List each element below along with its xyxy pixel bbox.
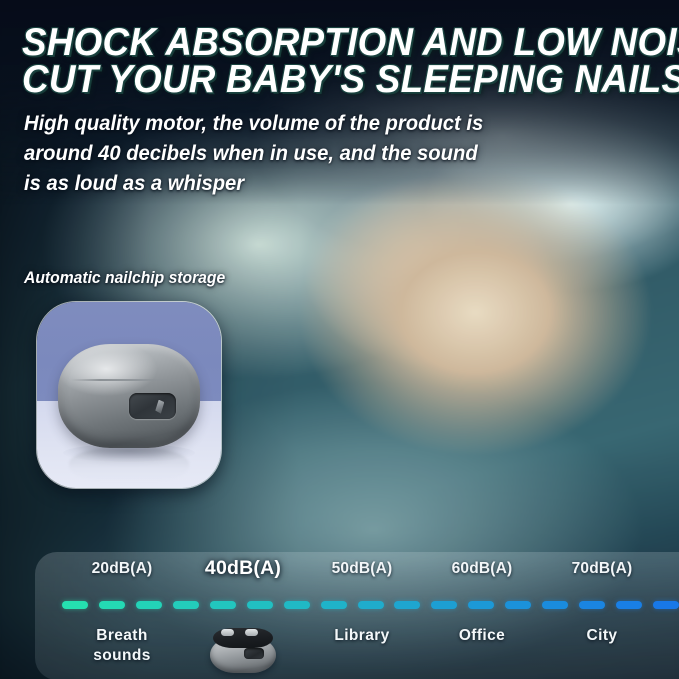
decibel-label-2: 50dB(A): [332, 560, 393, 578]
sound-source-label-3: Office: [459, 626, 505, 646]
scale-dash-5: [247, 601, 273, 609]
product-case-seam: [71, 379, 187, 381]
product-case-icon: [58, 344, 200, 448]
decibel-gradient-dash-line: [0, 601, 679, 610]
scale-dash-10: [431, 601, 457, 609]
scale-dash-15: [616, 601, 642, 609]
scale-dash-1: [99, 601, 125, 609]
subtitle: High quality motor, the volume of the pr…: [24, 108, 550, 198]
mini-case-window: [244, 648, 264, 659]
scale-dash-8: [358, 601, 384, 609]
mini-case-knob-left: [221, 629, 234, 636]
scale-dash-3: [173, 601, 199, 609]
product-poster: SHOCK ABSORPTION AND LOW NOISE CUT YOUR …: [0, 0, 679, 679]
headline-line-2: CUT YOUR BABY'S SLEEPING NAILS: [22, 61, 641, 98]
decibel-label-0: 20dB(A): [92, 560, 153, 578]
scale-dash-0: [62, 601, 88, 609]
inset-product-box: [36, 301, 222, 489]
decibel-label-3: 60dB(A): [452, 560, 513, 578]
scale-dash-14: [579, 601, 605, 609]
scale-dash-13: [542, 601, 568, 609]
subtitle-line-2: around 40 decibels when in use, and the …: [24, 138, 550, 168]
decibel-label-row: 20dB(A)40dB(A)50dB(A)60dB(A)70dB(A): [0, 560, 679, 592]
sound-source-label-2: Library: [334, 626, 389, 646]
scale-product-marker-icon: [206, 628, 280, 674]
headline-line-1: SHOCK ABSORPTION AND LOW NOISE: [22, 24, 641, 61]
scale-dash-16: [653, 601, 679, 609]
inset-caption: Automatic nailchip storage: [24, 269, 225, 288]
decibel-label-4: 70dB(A): [572, 560, 633, 578]
scale-dash-7: [321, 601, 347, 609]
scale-dash-12: [505, 601, 531, 609]
scale-dash-6: [284, 601, 310, 609]
scale-dash-9: [394, 601, 420, 609]
subtitle-line-1: High quality motor, the volume of the pr…: [24, 108, 550, 138]
product-case-reflection: [69, 448, 189, 482]
scale-dash-2: [136, 601, 162, 609]
sound-source-label-row: Breath soundsLibraryOfficeCity: [0, 626, 679, 678]
mini-case-knob-right: [245, 629, 258, 636]
sound-source-label-4: City: [587, 626, 618, 646]
scale-dash-4: [210, 601, 236, 609]
sound-source-label-0: Breath sounds: [93, 626, 151, 666]
product-case-window: [129, 393, 176, 419]
headline: SHOCK ABSORPTION AND LOW NOISE CUT YOUR …: [22, 24, 641, 98]
subtitle-line-3: is as loud as a whisper: [24, 168, 550, 198]
scale-dash-11: [468, 601, 494, 609]
decibel-label-1: 40dB(A): [205, 557, 281, 580]
